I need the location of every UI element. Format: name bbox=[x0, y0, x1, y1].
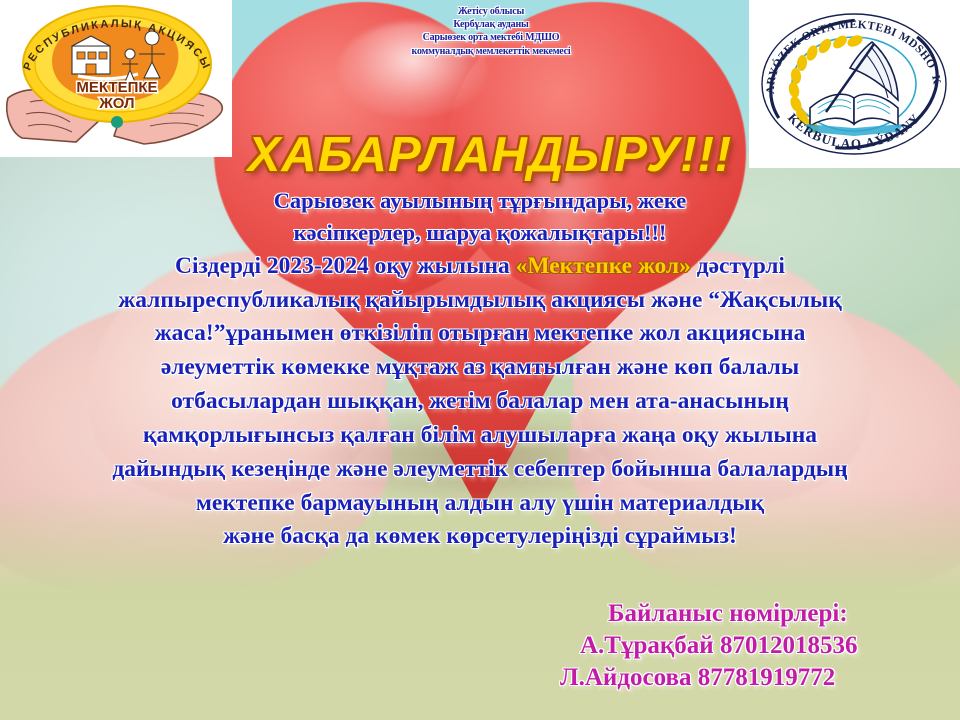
contact-person-2: Л.Айдосова 87781919772 bbox=[560, 662, 958, 694]
body-line-3: Сіздерді 2023-2024 оқу жылына «Мектепке … bbox=[14, 250, 946, 284]
body-line-7: отбасылардан шыққан, жетім балалар мен а… bbox=[14, 385, 946, 419]
body-line-8: қамқорлығынсыз қалған білім алушыларға ж… bbox=[14, 419, 946, 453]
poster-title: ХАБАРЛАНДЫРУ!!! bbox=[180, 128, 800, 183]
contact-person-1: А.Тұрақбай 87012018536 bbox=[560, 630, 958, 662]
body-line-4: жалпыреспубликалық қайырымдылық акциясы … bbox=[14, 284, 946, 318]
body-line-6: әлеуметтік көмекке мұқтаж аз қамтылған ж… bbox=[14, 351, 946, 385]
logo-left-center-line1: МЕКТЕПКЕ bbox=[76, 79, 157, 96]
body-line-10: мектепке бармауының алдын алу үшін матер… bbox=[14, 487, 946, 521]
contact-information-block: Байланыс нөмірлері: А.Тұрақбай 870120185… bbox=[560, 598, 958, 694]
announcement-poster: МЕКТЕПКЕ ЖОЛ РЕСПУБЛИКАЛЫҚ АКЦИЯСЫ bbox=[0, 0, 960, 720]
body-line-1: Сарыөзек ауылының тұрғындары, жеке bbox=[14, 185, 946, 217]
body-line-3-post: дәстүрлі bbox=[691, 253, 785, 279]
logo-left-center-line2: ЖОЛ bbox=[98, 95, 134, 112]
poster-body-text: Сарыөзек ауылының тұрғындары, жеке кәсіп… bbox=[14, 185, 946, 554]
contact-heading: Байланыс нөмірлері: bbox=[560, 598, 958, 630]
body-line-11: және басқа да көмек көрсетулеріңізді сұр… bbox=[14, 520, 946, 554]
campaign-name-highlight: «Мектепке жол» bbox=[516, 253, 691, 279]
header-line-school: Сарыөзек орта мектебі МДШО bbox=[232, 32, 750, 43]
body-line-5: жаса!”ұранымен өткізіліп отырған мектепк… bbox=[14, 317, 946, 351]
body-line-9: дайындық кезеңінде және әлеуметтік себеп… bbox=[14, 453, 946, 487]
header-line-district: Кербұлақ ауданы bbox=[232, 19, 750, 30]
body-line-3-pre: Сіздерді 2023-2024 оқу жылына bbox=[175, 253, 516, 279]
header-line-region: Жетісу облысы bbox=[232, 6, 750, 17]
body-line-2: кәсіпкерлер, шаруа қожалықтары!!! bbox=[14, 217, 946, 249]
header-line-institution: коммуналдық мемлекеттік мекемесі bbox=[232, 46, 750, 57]
header-institution-block: Жетісу облысы Кербұлақ ауданы Сарыөзек о… bbox=[232, 6, 750, 59]
